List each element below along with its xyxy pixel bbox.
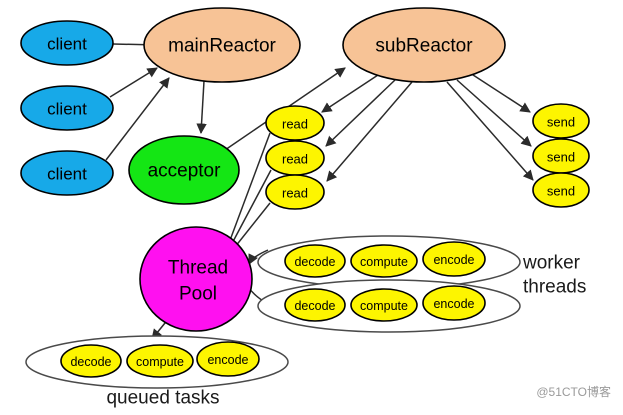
queued-task-compute[interactable]: compute: [127, 345, 193, 377]
node-send-3[interactable]: send: [533, 173, 589, 207]
reactor-diagram-canvas: client client client mainReactor subReac…: [0, 0, 623, 415]
worker2-task-decode[interactable]: decode: [285, 289, 345, 321]
node-client-2[interactable]: client: [21, 86, 113, 130]
node-read-3[interactable]: read: [266, 175, 324, 209]
edge-read1-to-threadpool: [226, 133, 270, 251]
edge-subreactor-to-send3: [447, 82, 533, 180]
client-nodes: client client client: [21, 21, 113, 195]
read-3-label: read: [282, 186, 308, 201]
queued-decode-label: decode: [70, 355, 111, 369]
send-2-label: send: [547, 150, 575, 165]
watermark-label: @51CTO博客: [536, 384, 611, 399]
node-send-2[interactable]: send: [533, 139, 589, 173]
worker-threads-caption-line2: threads: [523, 277, 586, 298]
read-2-label: read: [282, 152, 308, 167]
edge-client2-to-mainreactor: [110, 68, 157, 97]
thread-pool-label-line1: Thread: [168, 258, 228, 279]
reactor-diagram: client client client mainReactor subReac…: [0, 0, 623, 415]
node-main-reactor[interactable]: mainReactor: [144, 8, 300, 82]
worker2-compute-label: compute: [360, 299, 408, 313]
edge-subreactor-to-read3: [327, 82, 412, 181]
edge-mainreactor-to-acceptor: [201, 81, 204, 133]
thread-pool-label-line2: Pool: [179, 284, 217, 305]
acceptor-label: acceptor: [148, 161, 222, 182]
read-1-label: read: [282, 117, 308, 132]
queued-compute-label: compute: [136, 355, 184, 369]
queued-tasks-caption: queued tasks: [106, 388, 219, 409]
worker-thread-row-2-tasks: decode compute encode: [285, 286, 485, 321]
node-client-1[interactable]: client: [21, 21, 113, 65]
node-client-3[interactable]: client: [21, 151, 113, 195]
reactor-nodes: mainReactor subReactor: [144, 8, 505, 82]
worker1-compute-label: compute: [360, 255, 408, 269]
client-2-label: client: [47, 100, 87, 119]
node-send-1[interactable]: send: [533, 104, 589, 138]
node-sub-reactor[interactable]: subReactor: [343, 8, 505, 82]
queued-tasks-items: decode compute encode: [61, 342, 259, 377]
node-thread-pool[interactable]: Thread Pool: [140, 227, 252, 331]
worker2-decode-label: decode: [294, 299, 335, 313]
client-1-label: client: [47, 35, 87, 54]
worker2-encode-label: encode: [433, 297, 474, 311]
edge-subreactor-to-read1: [322, 75, 378, 112]
read-nodes: read read read: [266, 106, 324, 209]
queued-encode-label: encode: [207, 353, 248, 367]
worker1-task-compute[interactable]: compute: [351, 245, 417, 277]
main-reactor-label: mainReactor: [168, 36, 276, 57]
sub-reactor-label: subReactor: [375, 36, 473, 57]
worker-threads-caption-line1: worker: [522, 253, 581, 274]
send-3-label: send: [547, 184, 575, 199]
node-acceptor[interactable]: acceptor: [129, 136, 239, 204]
worker-thread-row-1-tasks: decode compute encode: [285, 242, 485, 277]
node-read-2[interactable]: read: [266, 141, 324, 175]
send-nodes: send send send: [533, 104, 589, 207]
thread-pool-shape[interactable]: [140, 227, 252, 331]
node-read-1[interactable]: read: [266, 106, 324, 140]
worker2-task-encode[interactable]: encode: [423, 286, 485, 320]
client-3-label: client: [47, 165, 87, 184]
worker1-encode-label: encode: [433, 253, 474, 267]
edge-subreactor-to-send1: [470, 73, 530, 112]
worker1-task-decode[interactable]: decode: [285, 245, 345, 277]
queued-task-decode[interactable]: decode: [61, 345, 121, 377]
send-1-label: send: [547, 115, 575, 130]
worker1-task-encode[interactable]: encode: [423, 242, 485, 276]
worker1-decode-label: decode: [294, 255, 335, 269]
queued-task-encode[interactable]: encode: [197, 342, 259, 376]
worker2-task-compute[interactable]: compute: [351, 289, 417, 321]
